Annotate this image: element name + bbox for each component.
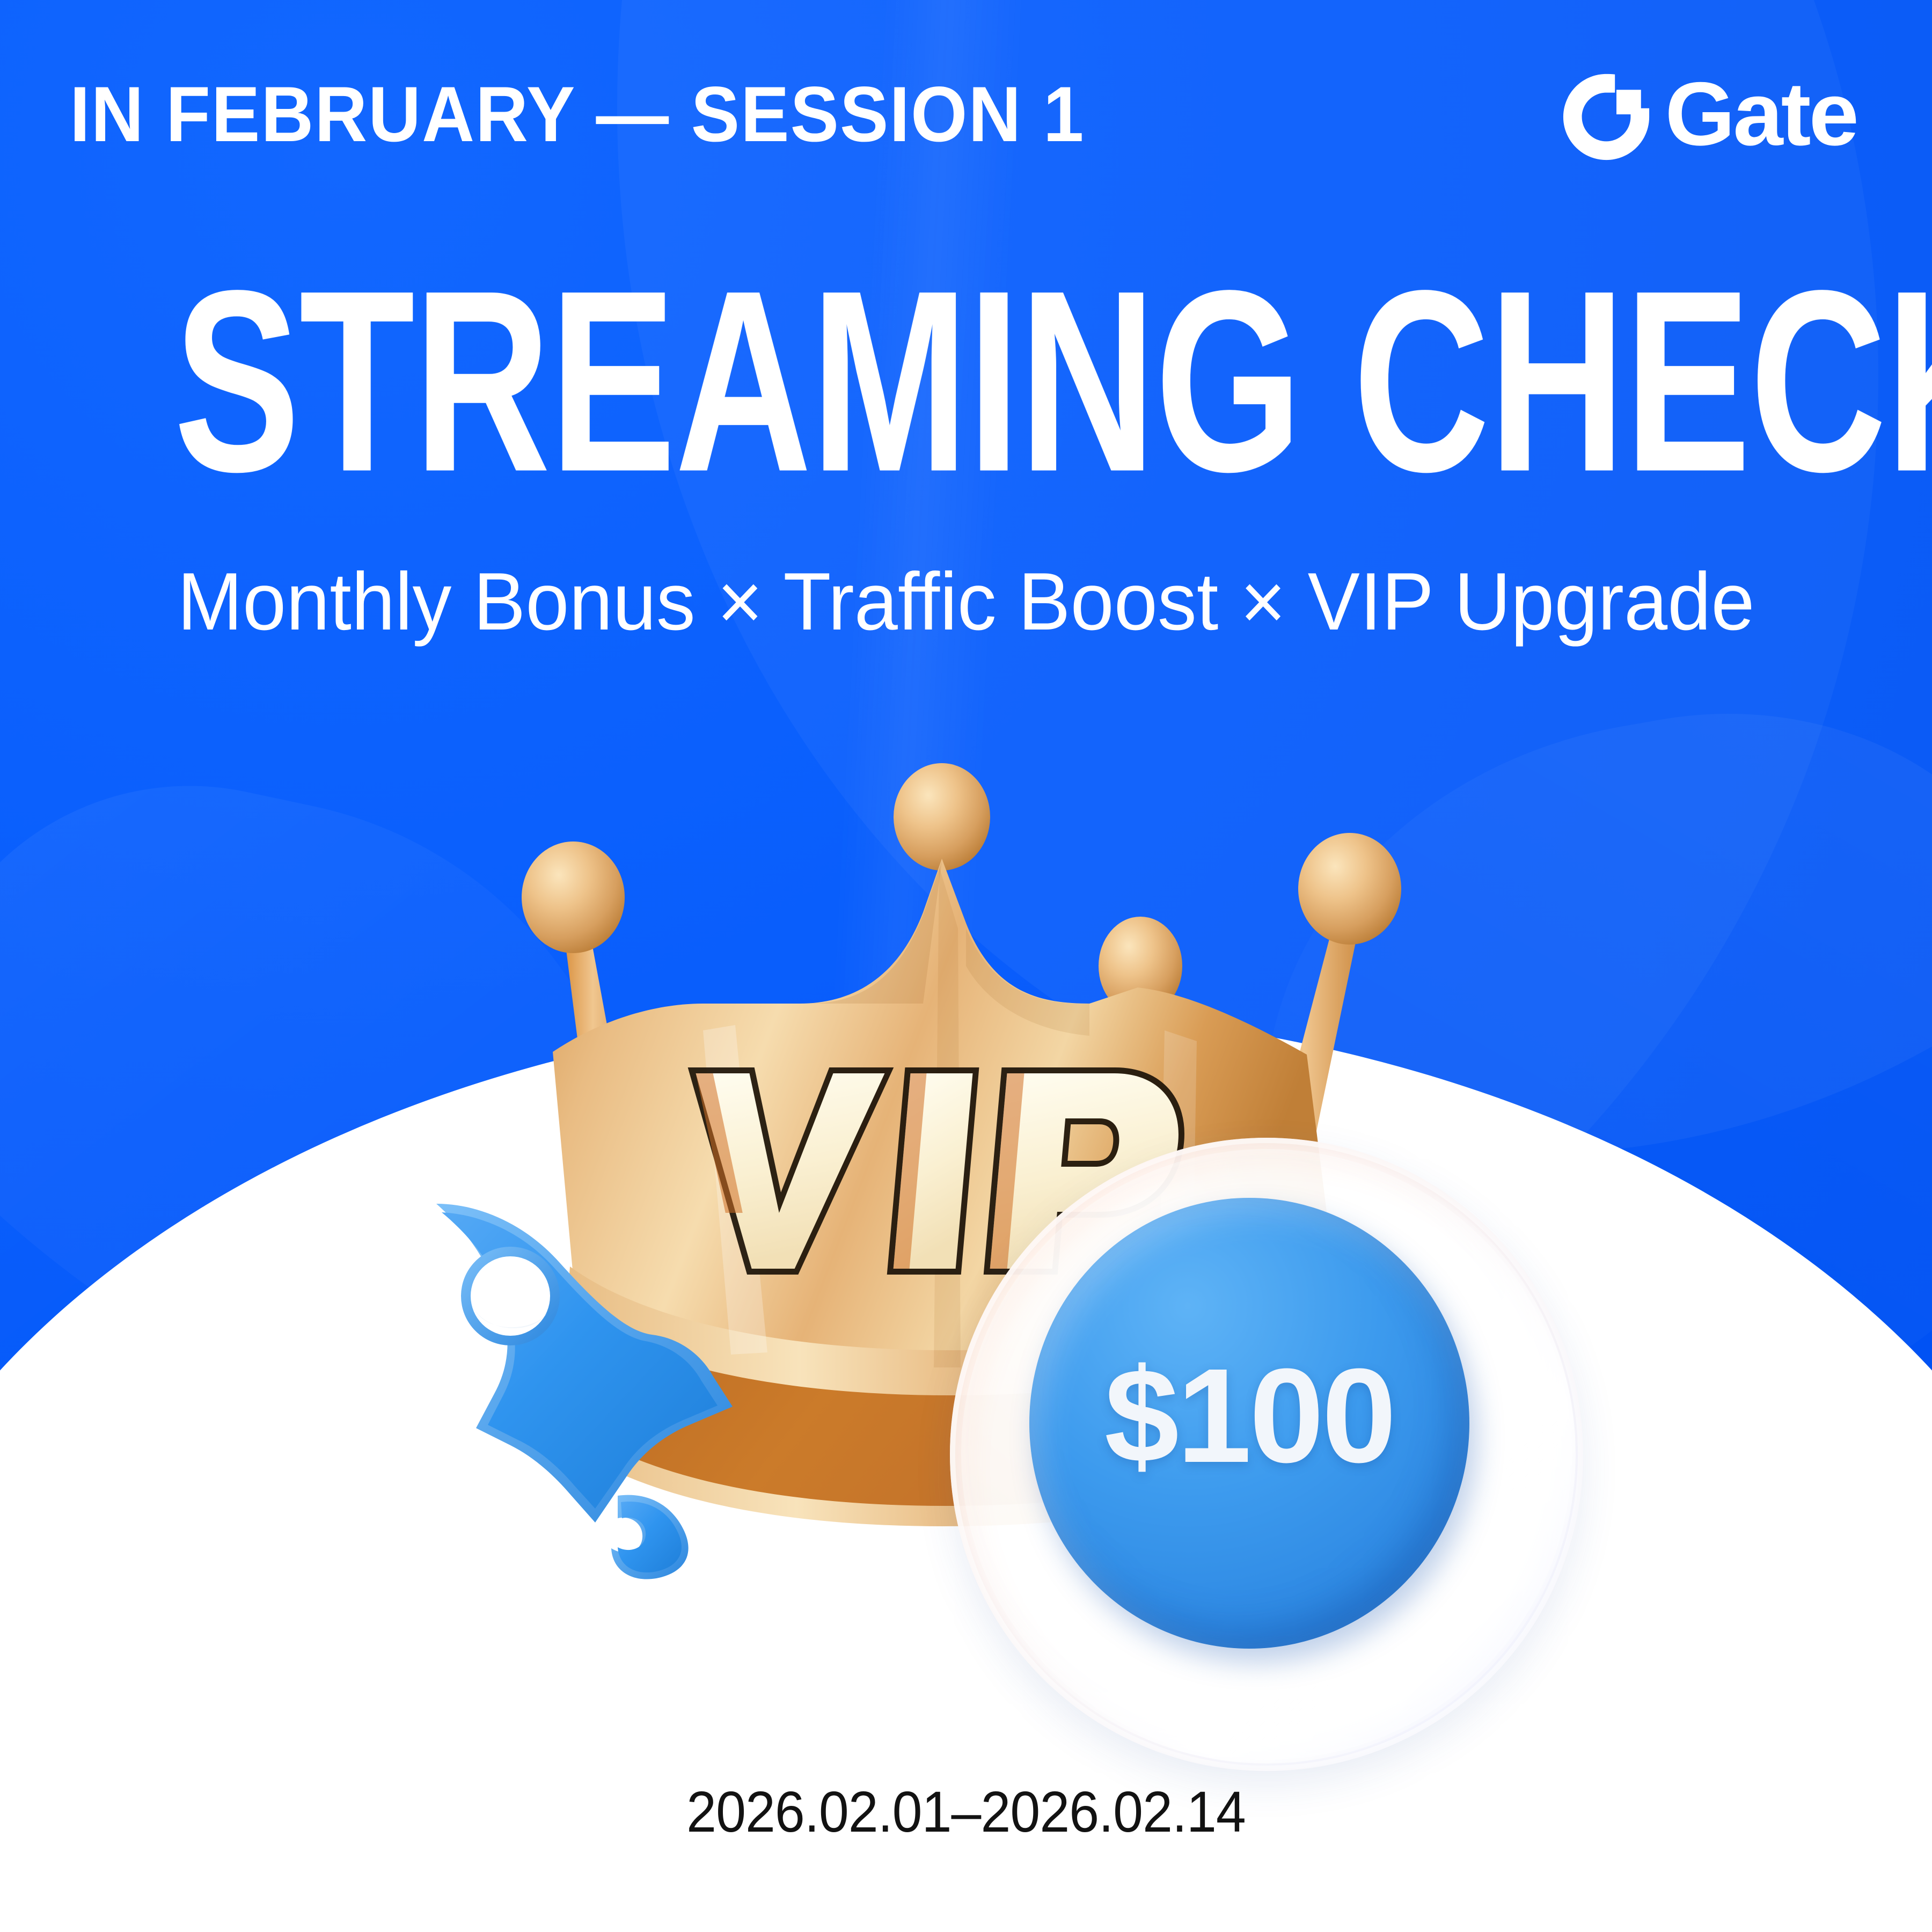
gate-wordmark: Gate <box>1665 69 1857 159</box>
page-title: STREAMING CHECK <box>174 252 1758 511</box>
page-subtitle: Monthly Bonus × Traffic Boost × VIP Upgr… <box>39 561 1893 642</box>
coin-amount-label: $100 <box>1104 1349 1394 1483</box>
gate-logo[interactable]: Gate <box>1559 70 1857 164</box>
promo-banner: IN FEBRUARY — SESSION 1 Gate STREAMING C… <box>0 0 1932 1932</box>
gate-ring-mark-icon <box>1559 70 1653 164</box>
eyebrow-text: IN FEBRUARY — SESSION 1 <box>70 75 1085 153</box>
rocket-illustration <box>400 1194 786 1580</box>
campaign-date-range: 2026.02.01–2026.02.14 <box>68 1783 1864 1841</box>
coin-disc: $100 <box>1029 1198 1469 1649</box>
reward-coin: $100 <box>950 1138 1583 1771</box>
